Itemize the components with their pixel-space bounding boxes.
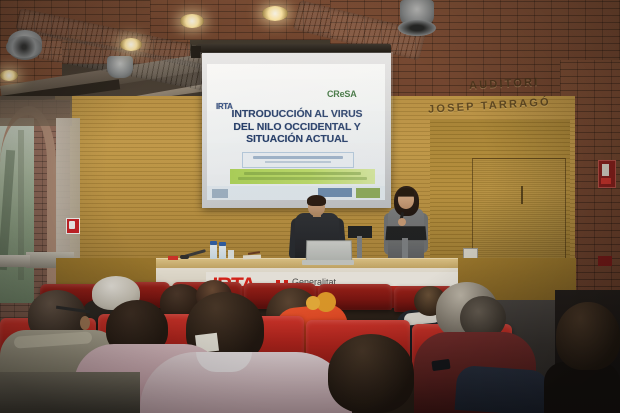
- laptop-base: [302, 260, 354, 265]
- speaker-hair-front: [398, 188, 414, 196]
- table-item: [168, 256, 178, 260]
- cresa-logo: CReSA: [327, 84, 357, 102]
- irta-logo: IRTA: [216, 96, 238, 105]
- ceiling-light: [180, 14, 204, 28]
- slide-footer-logo: [212, 189, 228, 198]
- ceiling-light: [120, 38, 142, 51]
- slide-event-line2: [238, 177, 367, 180]
- fire-extinguisher-label: [602, 164, 609, 176]
- bottle-cap: [219, 242, 226, 246]
- slide-title-line1: INTRODUCCIÓN AL VIRUS: [212, 108, 382, 121]
- slide-event-band: [230, 169, 375, 184]
- projection-screen-mount: [191, 46, 201, 58]
- fire-safety-sign: [598, 256, 612, 266]
- foreground-shadow: [0, 372, 140, 413]
- ceiling-light: [262, 6, 288, 21]
- paper-sheet: [243, 255, 261, 260]
- ceiling-fan-blades: [398, 20, 436, 36]
- slide-author-subtext: [265, 161, 331, 163]
- slide-event-line1: [244, 172, 361, 175]
- slide-title-line2: DEL NILO OCCIDENTAL Y: [212, 121, 382, 134]
- fire-safety-sign-glyph: [69, 221, 75, 229]
- audience-hood-detail: [306, 296, 320, 310]
- speaker-hand: [398, 218, 406, 226]
- door-handle: [521, 186, 523, 204]
- slide-footer-logo: [356, 188, 380, 198]
- slide-author-box: [242, 152, 354, 168]
- slide-title: INTRODUCCIÓN AL VIRUS DEL NILO OCCIDENTA…: [212, 108, 382, 146]
- audience-ear: [80, 316, 90, 330]
- water-bottle: [210, 244, 217, 259]
- backpack: [455, 365, 550, 413]
- slide-title-line3: SITUACIÓN ACTUAL: [212, 133, 382, 146]
- slide-author-text: [253, 156, 343, 159]
- brick-arch: [0, 106, 56, 306]
- cresa-logo-text: CReSA: [327, 89, 357, 99]
- speaker-hair: [307, 195, 326, 206]
- drinking-glass: [228, 250, 234, 259]
- microphone-base: [180, 255, 189, 259]
- audience-member-head: [556, 302, 620, 370]
- audience-member-head: [328, 334, 414, 413]
- bottle-cap: [210, 241, 217, 245]
- duct-vent: [107, 56, 133, 78]
- fire-extinguisher-body: [601, 178, 611, 184]
- auditorium-photo: AUDITORI JOSEP TARRAGÓ IRTA CReSA INTROD…: [0, 0, 620, 413]
- ceiling-fan-blades: [6, 36, 42, 58]
- ceiling-light: [0, 70, 18, 81]
- water-bottle: [219, 245, 226, 259]
- window-ledge: [0, 255, 30, 267]
